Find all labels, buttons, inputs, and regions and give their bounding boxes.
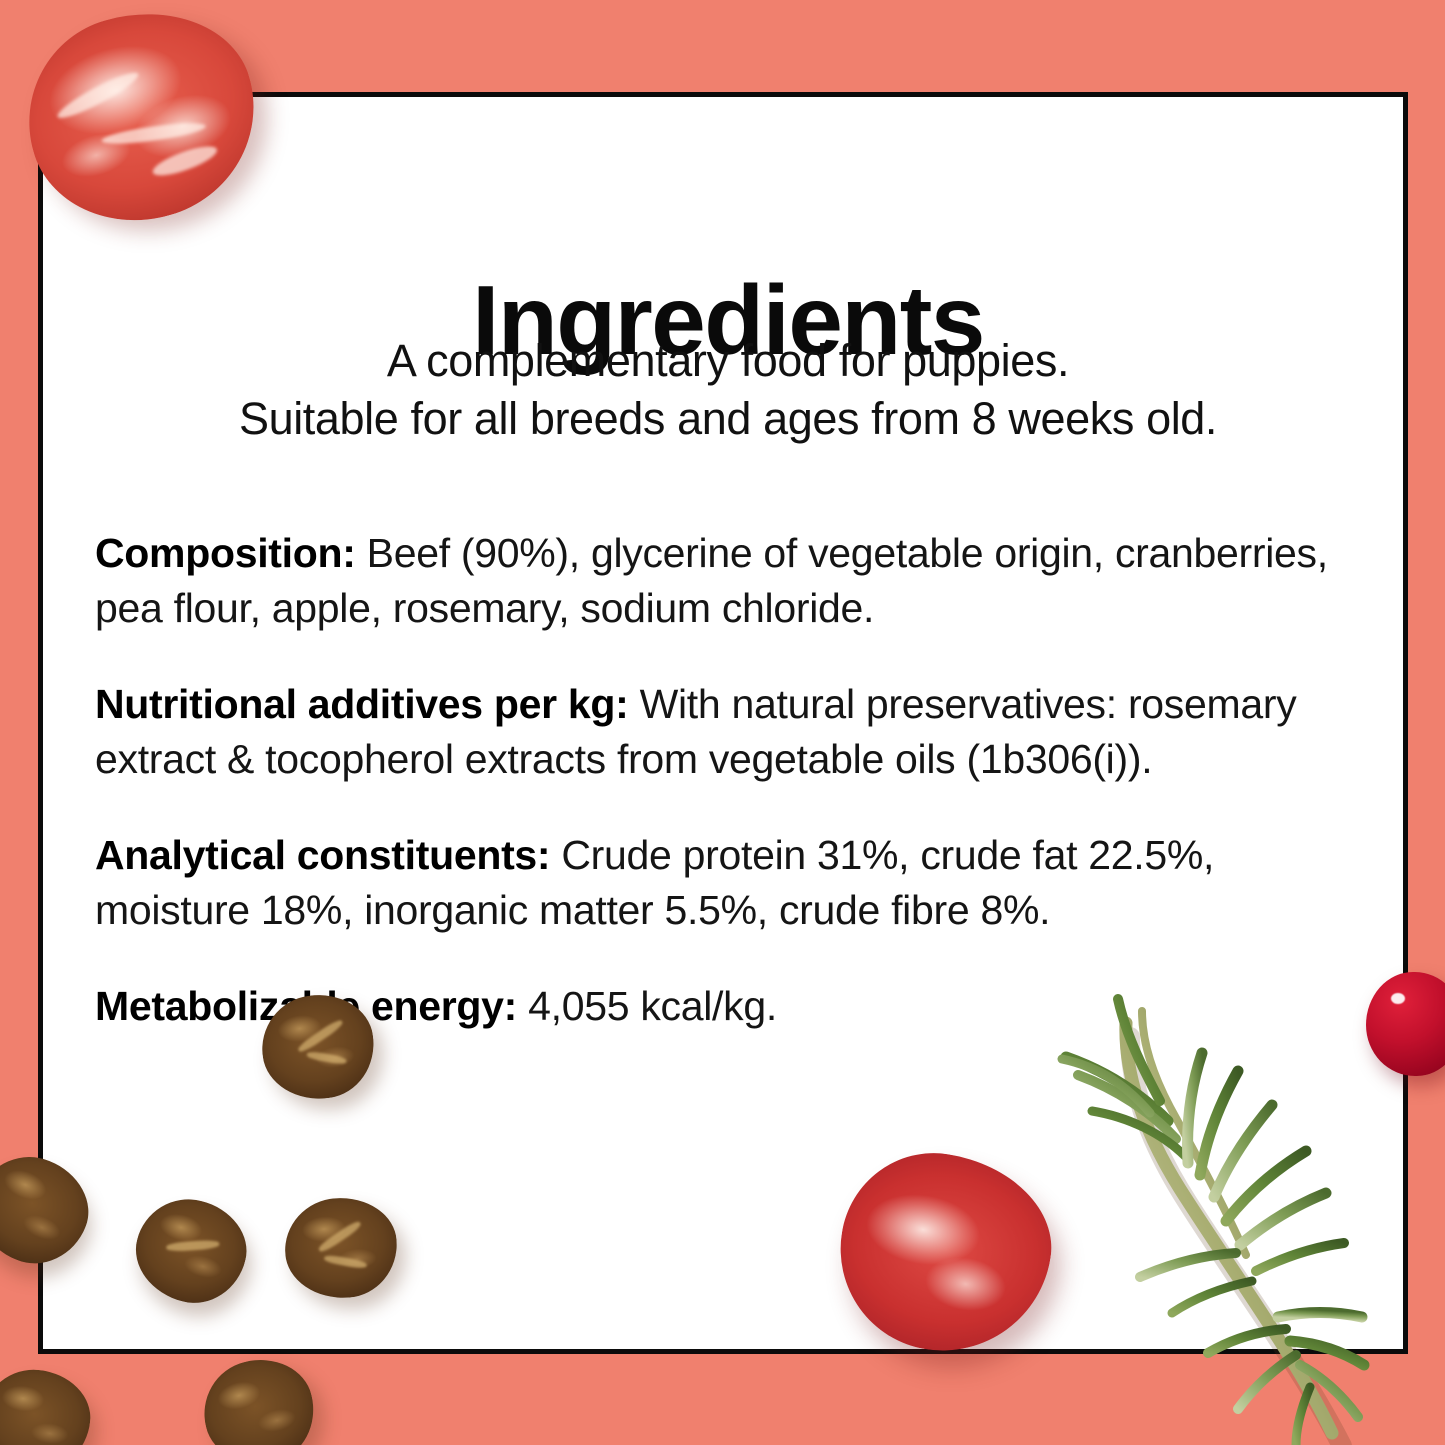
section-label: Composition:: [95, 530, 356, 576]
ingredients-poster: Ingredients A complementary food for pup…: [0, 0, 1445, 1445]
subtitle-line-1: A complementary food for puppies.: [43, 332, 1413, 390]
section-composition: Composition: Beef (90%), glycerine of ve…: [95, 526, 1365, 636]
kibble-piece: [0, 1365, 95, 1445]
subtitle-line-2: Suitable for all breeds and ages from 8 …: [43, 390, 1413, 448]
rosemary-sprig: [1000, 925, 1400, 1445]
section-nutritional-additives: Nutritional additives per kg: With natur…: [95, 677, 1365, 787]
section-value: 4,055 kcal/kg.: [528, 983, 777, 1029]
section-label: Nutritional additives per kg:: [95, 681, 629, 727]
section-label: Analytical constituents:: [95, 832, 550, 878]
kibble-piece: [193, 1348, 325, 1445]
section-analytical-constituents: Analytical constituents: Crude protein 3…: [95, 828, 1365, 938]
subtitle: A complementary food for puppies. Suitab…: [43, 332, 1413, 447]
